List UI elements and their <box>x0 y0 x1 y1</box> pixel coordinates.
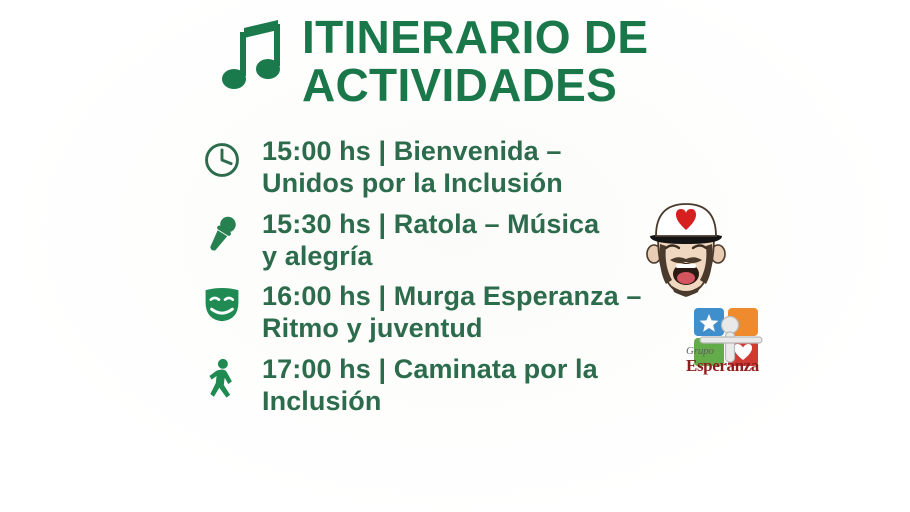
schedule-item-text-2: 15:30 hs | Ratola – Música y alegría <box>244 209 599 273</box>
clock-icon <box>200 140 244 188</box>
theater-mask-icon <box>200 285 244 333</box>
schedule-item-text-4: 17:00 hs | Caminata por la Inclusión <box>244 354 598 418</box>
schedule-list: 15:00 hs | Bienvenida – Unidos por la In… <box>200 136 670 427</box>
grupo-esperanza-logo: Grupo Esperanza <box>684 306 788 398</box>
singing-character-illustration <box>634 192 738 304</box>
music-note-icon <box>222 18 284 96</box>
logo-mark <box>684 306 780 368</box>
walking-person-icon <box>200 358 244 406</box>
microphone-icon <box>200 213 244 261</box>
page-title: ITINERARIO DE ACTIVIDADES <box>302 14 648 110</box>
poster-canvas: ITINERARIO DE ACTIVIDADES 15:00 hs | Bie… <box>0 0 910 512</box>
poster-title-row: ITINERARIO DE ACTIVIDADES <box>222 14 648 110</box>
schedule-item-text-3: 16:00 hs | Murga Esperanza – Ritmo y juv… <box>244 281 642 345</box>
list-item: 17:00 hs | Caminata por la Inclusión <box>200 354 670 418</box>
list-item: 15:30 hs | Ratola – Música y alegría <box>200 209 670 273</box>
schedule-item-text-1: 15:00 hs | Bienvenida – Unidos por la In… <box>244 136 563 200</box>
list-item: 15:00 hs | Bienvenida – Unidos por la In… <box>200 136 670 200</box>
list-item: 16:00 hs | Murga Esperanza – Ritmo y juv… <box>200 281 670 345</box>
